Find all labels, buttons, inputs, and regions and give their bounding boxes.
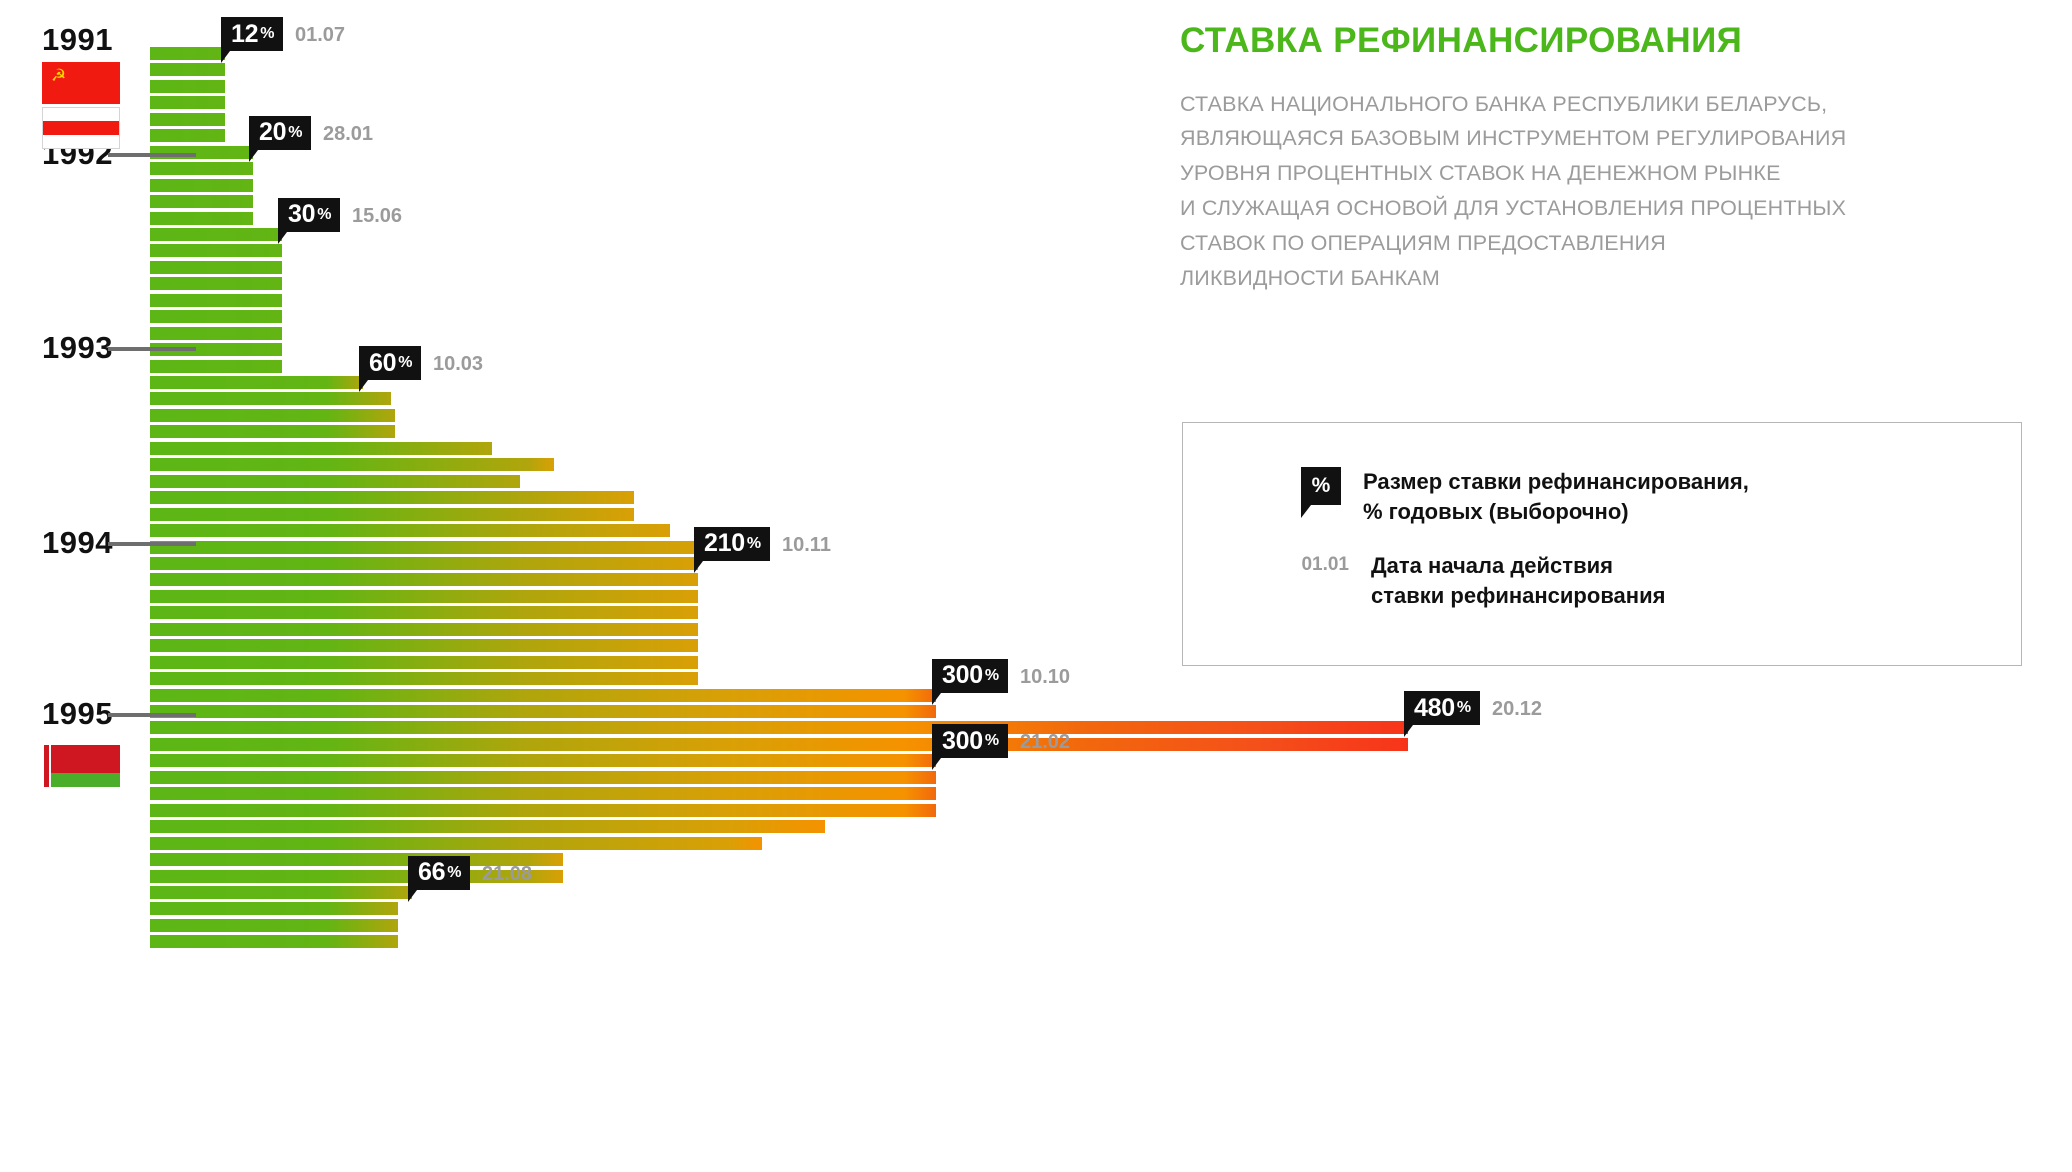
subtitle-line-2: ЯВЛЯЮЩАЯСЯ БАЗОВЫМ ИНСТРУМЕНТОМ РЕГУЛИРО… xyxy=(1180,121,2040,156)
bar-row xyxy=(150,475,520,488)
page-subtitle: СТАВКА НАЦИОНАЛЬНОГО БАНКА РЕСПУБЛИКИ БЕ… xyxy=(1180,87,2040,296)
rate-callout-300: 300% xyxy=(932,659,1008,693)
rate-bar-1995-1 xyxy=(150,738,1408,751)
rate-date-10.03: 10.03 xyxy=(433,353,483,376)
rate-callout-20: 20% xyxy=(249,116,311,150)
rate-bar-1994-12 xyxy=(150,721,1408,734)
rate-bar-1992-6 xyxy=(150,228,282,241)
rate-bar-1991-8 xyxy=(150,63,225,76)
legend-rate-line-2: % годовых (выборочно) xyxy=(1363,497,1749,527)
legend-date-line-1: Дата начала действия xyxy=(1371,551,1665,581)
subtitle-line-4: И СЛУЖАЩАЯ ОСНОВОЙ ДЛЯ УСТАНОВЛЕНИЯ ПРОЦ… xyxy=(1180,191,2040,226)
rate-bar-1991-10 xyxy=(150,96,225,109)
callout-percent-sign: % xyxy=(985,732,999,750)
bar-row xyxy=(150,63,225,76)
rate-bar-1994-10 xyxy=(150,689,936,702)
bar-row xyxy=(150,162,253,175)
rate-callout-300: 300% xyxy=(932,724,1008,758)
bar-row xyxy=(150,392,391,405)
legend-date-text: Дата начала действия ставки рефинансиров… xyxy=(1371,551,1665,612)
rate-bar-1995-5 xyxy=(150,804,936,817)
rate-bar-1993-4 xyxy=(150,392,391,405)
rate-bar-1992-2 xyxy=(150,162,253,175)
rate-bar-1992-3 xyxy=(150,179,253,192)
flag-red-stripe xyxy=(43,121,119,135)
bar-row xyxy=(150,179,253,192)
year-label-1994: 1994 xyxy=(42,525,113,561)
flag-green-stripe xyxy=(42,773,120,787)
bar-row xyxy=(150,935,398,948)
bar-row xyxy=(150,820,825,833)
bar-row xyxy=(150,458,554,471)
rate-callout-66: 66% xyxy=(408,856,470,890)
rate-bar-1995-2 xyxy=(150,754,936,767)
callout-value: 66 xyxy=(418,858,445,887)
rate-bar-1991-9 xyxy=(150,80,225,93)
rate-bar-1994-1 xyxy=(150,541,708,554)
callout-value: 60 xyxy=(369,349,396,378)
rate-date-15.06: 15.06 xyxy=(352,205,402,228)
rate-callout-60: 60% xyxy=(359,346,421,380)
rate-bar-1992-4 xyxy=(150,195,253,208)
legend-item-date: 01.01 Дата начала действия ставки рефина… xyxy=(1293,551,1665,612)
rate-date-21.08: 21.08 xyxy=(482,863,532,886)
subtitle-line-5: СТАВОК ПО ОПЕРАЦИЯМ ПРЕДОСТАВЛЕНИЯ xyxy=(1180,226,2040,261)
subtitle-line-6: ЛИКВИДНОСТИ БАНКАМ xyxy=(1180,261,2040,296)
rate-bar-1992-9 xyxy=(150,277,282,290)
legend-rate-text: Размер ставки рефинансирования, % годовы… xyxy=(1363,467,1749,528)
bar-row xyxy=(150,524,670,537)
callout-value: 480 xyxy=(1414,694,1455,723)
bar-row xyxy=(150,656,698,669)
year-tick-1992 xyxy=(108,153,196,157)
rate-bar-1994-11 xyxy=(150,705,936,718)
rate-date-28.01: 28.01 xyxy=(323,123,373,146)
bar-row xyxy=(150,277,282,290)
bar-row xyxy=(150,113,225,126)
rate-bar-1994-9 xyxy=(150,672,698,685)
bar-row xyxy=(150,129,225,142)
rate-bar-1991-7 xyxy=(150,47,225,60)
rate-bar-1995-13 xyxy=(150,935,398,948)
year-tick-1993 xyxy=(108,347,196,351)
legend-box: % Размер ставки рефинансирования, % годо… xyxy=(1182,422,2022,666)
bar-row xyxy=(150,96,225,109)
rate-bar-1993-9 xyxy=(150,475,520,488)
soviet-union-flag: ☭ xyxy=(42,62,120,104)
callout-value: 300 xyxy=(942,727,983,756)
bar-row xyxy=(150,639,698,652)
rate-bar-1993-3 xyxy=(150,376,363,389)
bar-row xyxy=(150,623,698,636)
rate-bar-1994-5 xyxy=(150,606,698,619)
rate-date-10.10: 10.10 xyxy=(1020,666,1070,689)
bar-row xyxy=(150,754,936,767)
bar-row xyxy=(150,804,936,817)
rate-bar-1994-6 xyxy=(150,623,698,636)
page-title: СТАВКА РЕФИНАНСИРОВАНИЯ xyxy=(1180,22,2040,61)
bar-row xyxy=(150,672,698,685)
bar-row xyxy=(150,244,282,257)
rate-bar-1992-8 xyxy=(150,261,282,274)
bar-row xyxy=(150,442,492,455)
rate-bar-1993-12 xyxy=(150,524,670,537)
bar-row xyxy=(150,425,395,438)
bar-row xyxy=(150,491,634,504)
bar-row xyxy=(150,294,282,307)
percent-chip-icon: % xyxy=(1301,467,1341,505)
bar-row xyxy=(150,228,282,241)
rate-bar-1992-10 xyxy=(150,294,282,307)
white-red-white-flag xyxy=(42,107,120,149)
bar-row xyxy=(150,787,936,800)
bar-row xyxy=(150,80,225,93)
year-label-1991: 1991 xyxy=(42,22,113,58)
callout-percent-sign: % xyxy=(398,354,412,372)
bar-row xyxy=(150,376,363,389)
rate-bar-1994-2 xyxy=(150,557,698,570)
legend-date-line-2: ставки рефинансирования xyxy=(1371,581,1665,611)
bar-row xyxy=(150,557,698,570)
rate-date-20.12: 20.12 xyxy=(1492,698,1542,721)
rate-bar-1995-6 xyxy=(150,820,825,833)
callout-value: 20 xyxy=(259,118,286,147)
rate-bar-1994-7 xyxy=(150,639,698,652)
rate-bar-1994-4 xyxy=(150,590,698,603)
refinancing-rate-bar-chart: 12%01.0720%28.0130%15.0660%10.03210%10.1… xyxy=(0,0,1180,1172)
rate-date-21.02: 21.02 xyxy=(1020,731,1070,754)
bar-row xyxy=(150,327,282,340)
rate-bar-1993-8 xyxy=(150,458,554,471)
rate-bar-1993-10 xyxy=(150,491,634,504)
callout-percent-sign: % xyxy=(260,25,274,43)
callout-percent-sign: % xyxy=(985,667,999,685)
callout-percent-sign: % xyxy=(1457,699,1471,717)
rate-bar-1994-8 xyxy=(150,656,698,669)
bar-row xyxy=(150,360,282,373)
rate-bar-1995-4 xyxy=(150,787,936,800)
rate-bar-1993-5 xyxy=(150,409,395,422)
infographic-canvas: 12%01.0720%28.0130%15.0660%10.03210%10.1… xyxy=(0,0,2072,1172)
rate-bar-1992-12 xyxy=(150,327,282,340)
callout-percent-sign: % xyxy=(317,206,331,224)
bar-row xyxy=(150,886,412,899)
rate-bar-1995-10 xyxy=(150,886,412,899)
bar-row xyxy=(150,195,253,208)
year-tick-1994 xyxy=(108,542,196,546)
bar-row xyxy=(150,212,253,225)
rate-bar-1995-12 xyxy=(150,919,398,932)
bar-row xyxy=(150,409,395,422)
callout-percent-sign: % xyxy=(747,535,761,553)
rate-bar-1995-3 xyxy=(150,771,936,784)
bar-row xyxy=(150,721,1408,734)
rate-bar-1993-7 xyxy=(150,442,492,455)
bar-row xyxy=(150,310,282,323)
rate-bar-1993-11 xyxy=(150,508,634,521)
rate-bar-1991-11 xyxy=(150,113,225,126)
bar-row xyxy=(150,541,708,554)
legend-date-key: 01.01 xyxy=(1293,551,1349,576)
rate-bar-1995-11 xyxy=(150,902,398,915)
legend-rate-line-1: Размер ставки рефинансирования, xyxy=(1363,467,1749,497)
belarus-flag xyxy=(42,745,120,787)
rate-date-01.07: 01.07 xyxy=(295,24,345,47)
bar-row xyxy=(150,705,936,718)
rate-callout-12: 12% xyxy=(221,17,283,51)
rate-callout-480: 480% xyxy=(1404,691,1480,725)
callout-percent-sign: % xyxy=(447,864,461,882)
bar-row xyxy=(150,902,398,915)
bar-row xyxy=(150,771,936,784)
callout-value: 210 xyxy=(704,529,745,558)
rate-bar-1993-6 xyxy=(150,425,395,438)
year-label-1995: 1995 xyxy=(42,696,113,732)
subtitle-line-1: СТАВКА НАЦИОНАЛЬНОГО БАНКА РЕСПУБЛИКИ БЕ… xyxy=(1180,87,2040,122)
rate-bar-1991-12 xyxy=(150,129,225,142)
hammer-sickle-icon: ☭ xyxy=(51,67,66,84)
info-panel: СТАВКА РЕФИНАНСИРОВАНИЯ СТАВКА НАЦИОНАЛЬ… xyxy=(1180,22,2040,295)
year-label-1993: 1993 xyxy=(42,330,113,366)
bar-row xyxy=(150,738,1408,751)
rate-bar-1994-3 xyxy=(150,573,698,586)
bar-row xyxy=(150,47,225,60)
bar-row xyxy=(150,508,634,521)
rate-bar-1992-11 xyxy=(150,310,282,323)
bar-row xyxy=(150,590,698,603)
rate-date-10.11: 10.11 xyxy=(782,534,831,557)
callout-value: 30 xyxy=(288,200,315,229)
year-tick-1995 xyxy=(108,713,196,717)
callout-value: 300 xyxy=(942,661,983,690)
bar-row xyxy=(150,261,282,274)
bar-row xyxy=(150,689,936,702)
rate-callout-210: 210% xyxy=(694,527,770,561)
subtitle-line-3: УРОВНЯ ПРОЦЕНТНЫХ СТАВОК НА ДЕНЕЖНОМ РЫН… xyxy=(1180,156,2040,191)
rate-bar-1992-5 xyxy=(150,212,253,225)
flag-ornament-stripe xyxy=(42,745,51,787)
legend-item-rate: % Размер ставки рефинансирования, % годо… xyxy=(1301,467,1749,528)
rate-bar-1993-2 xyxy=(150,360,282,373)
callout-percent-sign: % xyxy=(288,124,302,142)
rate-bar-1992-7 xyxy=(150,244,282,257)
bar-row xyxy=(150,919,398,932)
bar-row xyxy=(150,837,762,850)
callout-value: 12 xyxy=(231,20,258,49)
rate-callout-30: 30% xyxy=(278,198,340,232)
bar-row xyxy=(150,606,698,619)
bar-row xyxy=(150,573,698,586)
rate-bar-1995-7 xyxy=(150,837,762,850)
